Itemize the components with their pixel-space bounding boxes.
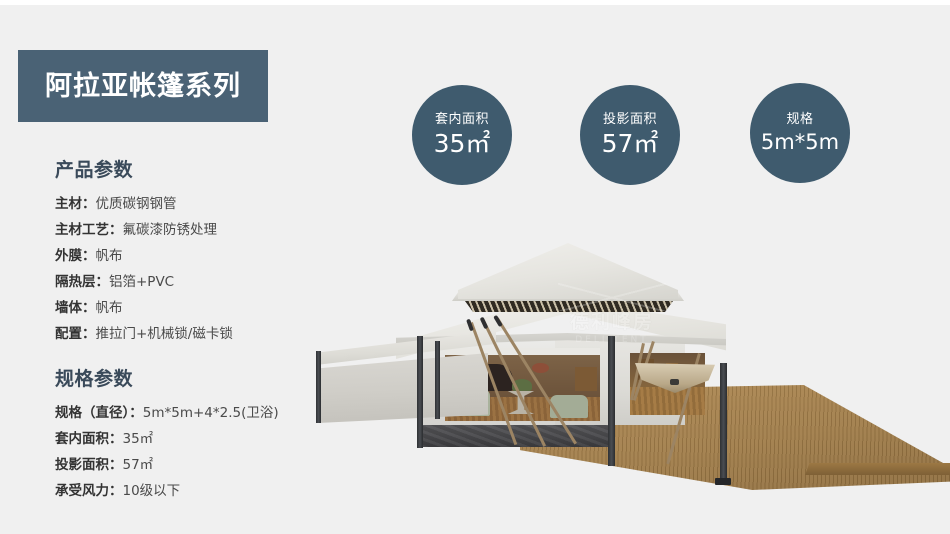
tent-illustration: 德利峰房 DELI TENT	[300, 235, 950, 505]
roof-vent-lattice	[460, 300, 678, 312]
spec-label: 规格（直径）：	[55, 405, 143, 421]
stat-label: 套内面积	[435, 113, 489, 127]
upper-roof-pyramid	[458, 243, 678, 299]
hammock-anchor	[670, 379, 679, 385]
spec-label: 隔热层：	[55, 274, 109, 290]
spec-value: 帆布	[96, 248, 123, 264]
deck-edge	[805, 463, 950, 475]
stat-label: 规格	[786, 113, 813, 127]
top-white-strip	[0, 0, 950, 5]
spec-row: 主材：优质碳钢钢管	[55, 191, 355, 217]
spec-label: 主材：	[55, 196, 96, 212]
stat-label: 投影面积	[603, 113, 657, 127]
spec-value: 优质碳钢钢管	[96, 196, 177, 212]
spec-value: 氟碳漆防锈处理	[123, 222, 218, 238]
spec-label: 外膜：	[55, 248, 96, 264]
stat-value: 35㎡	[434, 131, 491, 157]
spec-value: 帆布	[96, 300, 123, 316]
left-wing-wall	[318, 353, 488, 423]
spec-value: 推拉门+机械锁/磁卡锁	[96, 326, 233, 342]
spec-value: 57㎡	[123, 457, 154, 473]
steel-post	[720, 363, 727, 481]
spec-value: 10级以下	[123, 483, 181, 499]
stat-value: 5m*5m	[761, 131, 839, 153]
steel-post	[435, 341, 440, 419]
stat-circle-projected-area: 投影面积 57㎡	[580, 85, 680, 185]
spec-value: 5m*5m+4*2.5(卫浴)	[143, 405, 279, 421]
stat-value: 57㎡	[602, 131, 659, 157]
spec-label: 配置：	[55, 326, 96, 342]
steel-post	[316, 351, 321, 423]
spec-label: 承受风力：	[55, 483, 123, 499]
spec-label: 套内面积：	[55, 431, 123, 447]
product-params-heading: 产品参数	[55, 155, 355, 182]
spec-label: 投影面积：	[55, 457, 123, 473]
page-title: 阿拉亚帐篷系列	[45, 73, 241, 100]
steel-post	[417, 336, 423, 448]
spec-value: 铝箔+PVC	[109, 274, 174, 290]
steel-post	[608, 336, 615, 466]
product-spec-page: 阿拉亚帐篷系列 产品参数 主材：优质碳钢钢管 主材工艺：氟碳漆防锈处理 外膜：帆…	[0, 0, 950, 534]
title-banner: 阿拉亚帐篷系列	[18, 50, 268, 122]
spec-value: 35㎡	[123, 431, 154, 447]
post-base-plate	[715, 478, 731, 485]
interior-cabinet	[575, 367, 597, 391]
spec-label: 主材工艺：	[55, 222, 123, 238]
spec-label: 墙体：	[55, 300, 96, 316]
interior-floor	[630, 387, 705, 415]
stat-circle-interior-area: 套内面积 35㎡	[412, 85, 512, 185]
stat-circle-dimensions: 规格 5m*5m	[750, 83, 850, 183]
